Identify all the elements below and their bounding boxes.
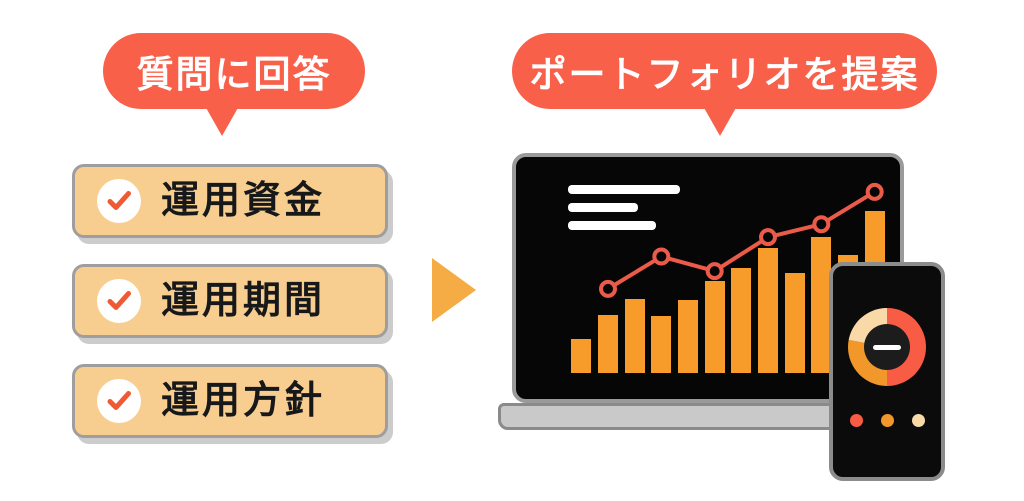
speech-bubble-portfolio-tail [703, 106, 737, 136]
donut-chart-center [864, 324, 910, 370]
donut-legend-dot [850, 414, 863, 427]
donut-chart-legend [833, 414, 941, 427]
donut-legend-dot [881, 414, 894, 427]
infographic-canvas: 質問に回答 ポートフォリオを提案 運用資金 運用期間 運用方針 [0, 0, 1024, 501]
trend-line-marker [708, 264, 722, 278]
checklist-item-label: 運用資金 [161, 182, 325, 220]
checklist-item-label: 運用方針 [161, 382, 325, 420]
speech-bubble-portfolio: ポートフォリオを提案 [512, 33, 937, 109]
speech-bubble-answer-label: 質問に回答 [137, 44, 332, 98]
checklist-item-label: 運用期間 [161, 282, 325, 320]
trend-line-marker [761, 230, 775, 244]
speech-bubble-answer-tail [205, 106, 239, 136]
check-icon [97, 279, 141, 323]
donut-chart [848, 308, 926, 386]
trend-line-marker [814, 217, 828, 231]
trend-line-marker [601, 282, 615, 296]
checklist-item-operating-funds[interactable]: 運用資金 [72, 164, 388, 238]
checklist-item-operating-period[interactable]: 運用期間 [72, 264, 388, 338]
smartphone-illustration [829, 262, 945, 481]
checklist-item-operating-policy[interactable]: 運用方針 [72, 364, 388, 438]
check-icon [97, 379, 141, 423]
donut-legend-dot [912, 414, 925, 427]
speech-bubble-answer: 質問に回答 [103, 33, 365, 109]
arrow-right-triangle-icon [432, 258, 476, 322]
trend-line-marker [654, 250, 668, 264]
check-icon [97, 179, 141, 223]
minus-icon [873, 345, 901, 350]
speech-bubble-portfolio-label: ポートフォリオを提案 [530, 44, 920, 98]
trend-line-marker [868, 185, 882, 199]
